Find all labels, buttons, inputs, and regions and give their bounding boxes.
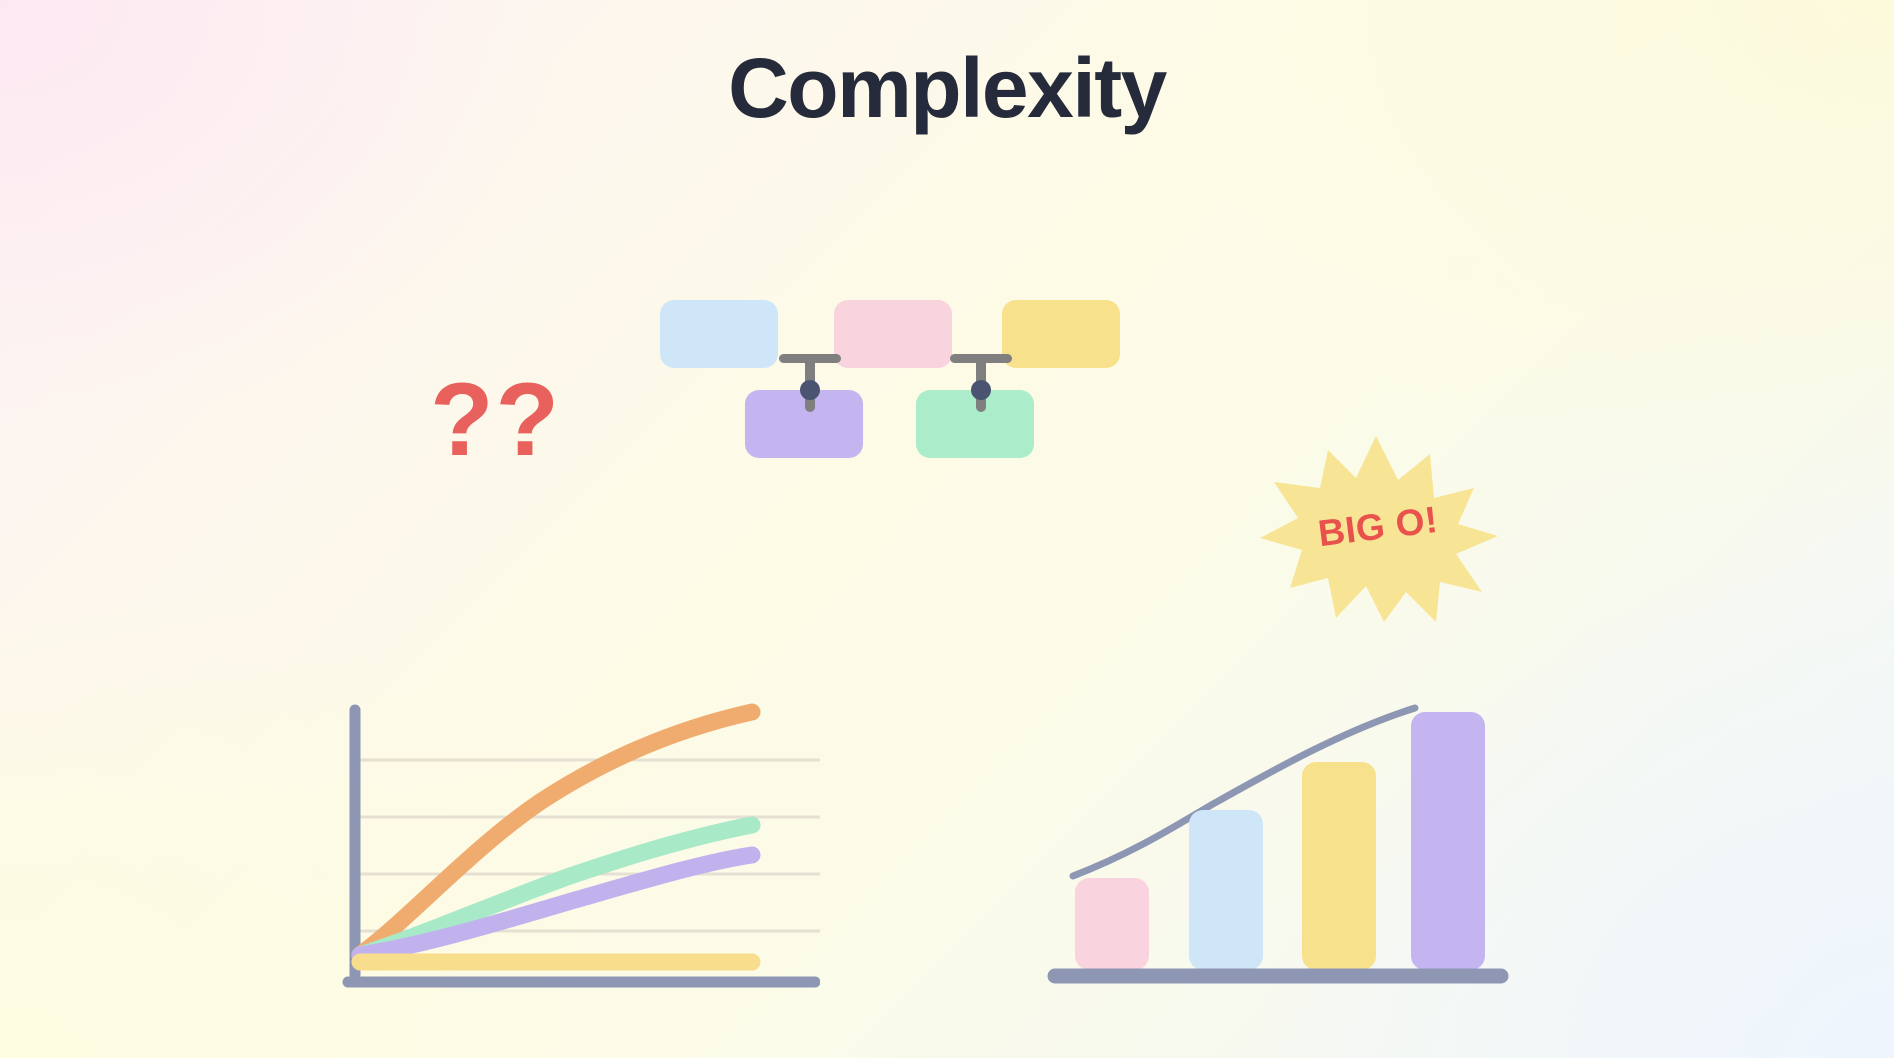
flowchart-node-purple — [745, 390, 863, 458]
flowchart-node-blue — [660, 300, 778, 368]
big-o-burst-badge: BIG O! — [1258, 432, 1498, 622]
bar-2-blue — [1189, 810, 1263, 970]
question-marks-decoration: ?? — [430, 368, 561, 472]
flowchart-node-green — [916, 390, 1034, 458]
connector-node-dot-icon — [800, 380, 820, 400]
page-title: Complexity — [0, 44, 1894, 132]
bar-3-yellow — [1302, 762, 1376, 970]
bar-1-pink — [1075, 878, 1149, 970]
poster-canvas: Complexity ?? BIG O! — [0, 0, 1894, 1058]
big-o-label: BIG O! — [1247, 418, 1508, 636]
growth-bar-chart — [1045, 680, 1515, 1000]
flowchart-diagram — [660, 300, 1220, 510]
growth-line-chart — [320, 690, 820, 1000]
bar-4-purple — [1411, 712, 1485, 970]
flowchart-node-yellow — [1002, 300, 1120, 368]
flowchart-node-pink — [834, 300, 952, 368]
connector-node-dot-icon — [971, 380, 991, 400]
